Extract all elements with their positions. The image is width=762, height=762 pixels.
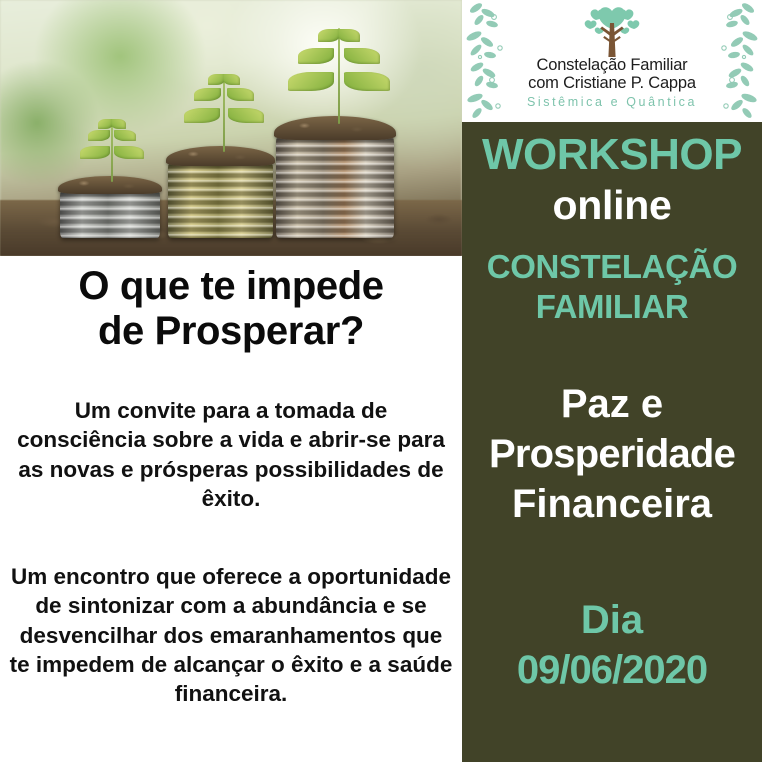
benefit-line-1: Paz e <box>462 384 762 426</box>
leaf-icon <box>338 29 360 42</box>
coin-stack-small <box>60 190 160 238</box>
leaf-icon <box>88 130 110 141</box>
coin-stack-large <box>276 136 394 238</box>
heart-tree-icon <box>566 3 658 59</box>
left-column: O que te impede de Prosperar? Um convite… <box>0 0 462 762</box>
leaf-icon <box>111 119 126 129</box>
stem <box>223 74 225 152</box>
logo-title-line-1: Constelação Familiar <box>462 56 762 75</box>
headline-line-2: de Prosperar? <box>6 309 456 354</box>
leaf-icon <box>80 146 110 159</box>
leaf-icon <box>344 72 390 91</box>
event-details-panel: WORKSHOP online CONSTELAÇÃO FAMILIAR Paz… <box>462 122 762 762</box>
body-paragraph-1: Um convite para a tomada de consciência … <box>0 396 462 513</box>
leaf-icon <box>194 88 221 101</box>
poster-canvas: O que te impede de Prosperar? Um convite… <box>0 0 762 762</box>
leaf-icon <box>288 72 334 91</box>
logo-title-line-2: com Cristiane P. Cappa <box>462 74 762 93</box>
leaf-icon <box>228 108 264 123</box>
brand-logo-card: Constelação Familiar com Cristiane P. Ca… <box>462 0 762 122</box>
leaf-icon <box>114 130 136 141</box>
stem <box>111 120 113 182</box>
seedling-large <box>288 28 390 124</box>
topic-line-1: CONSTELAÇÃO <box>462 250 762 284</box>
headline-line-1: O que te impede <box>6 264 456 309</box>
page-headline: O que te impede de Prosperar? <box>0 264 462 354</box>
topic-line-2: FAMILIAR <box>462 290 762 324</box>
leaf-icon <box>298 48 334 64</box>
leaf-icon <box>223 74 240 85</box>
right-column: Constelação Familiar com Cristiane P. Ca… <box>462 0 762 762</box>
logo-tagline: Sistêmica e Quântica <box>462 95 762 109</box>
date-label: Dia <box>462 600 762 642</box>
benefit-line-2: Prosperidade <box>462 434 762 476</box>
online-subtitle: online <box>462 184 762 227</box>
leaf-icon <box>318 29 340 42</box>
benefit-line-3: Financeira <box>462 484 762 526</box>
coins-with-seedlings-photo <box>0 0 462 256</box>
stem <box>338 28 340 124</box>
leaf-icon <box>114 146 144 159</box>
body-paragraph-2: Um encontro que oferece a oportunidade d… <box>0 562 462 708</box>
seedling-small <box>76 120 148 182</box>
coin-stack-medium <box>168 162 273 238</box>
leaf-icon <box>227 88 254 101</box>
leaf-icon <box>344 48 380 64</box>
seedling-medium <box>182 74 266 152</box>
workshop-title: WORKSHOP <box>462 132 762 178</box>
date-value: 09/06/2020 <box>462 650 762 692</box>
leaf-icon <box>184 108 220 123</box>
